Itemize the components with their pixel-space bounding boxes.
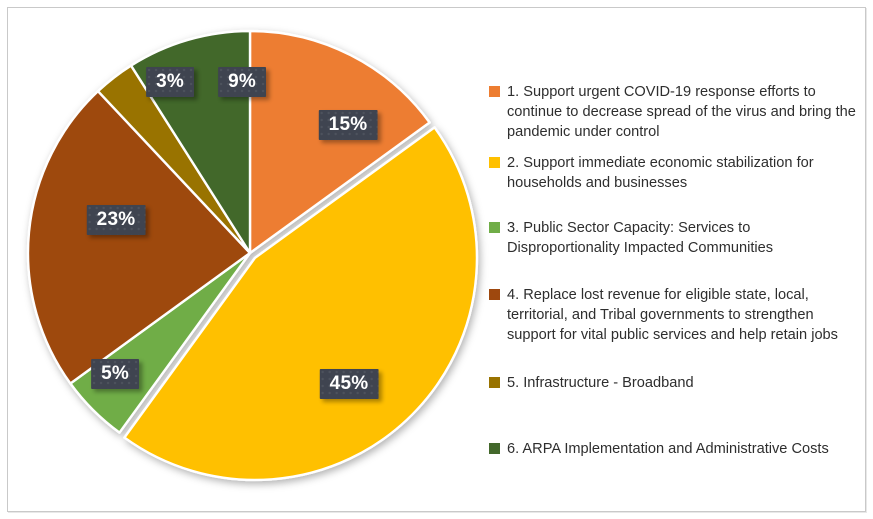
legend-swatch-icon [489,377,500,388]
legend-item-label: 1. Support urgent COVID-19 response effo… [507,82,859,142]
legend-item-label: 4. Replace lost revenue for eligible sta… [507,285,861,345]
legend-swatch-icon [489,289,500,300]
legend-item-label: 2. Support immediate economic stabilizat… [507,153,857,193]
legend-swatch-icon [489,157,500,168]
pie-data-label: 9% [218,67,266,97]
legend-item[interactable]: 5. Infrastructure - Broadband [489,373,861,393]
legend-item[interactable]: 6. ARPA Implementation and Administrativ… [489,439,861,459]
pie-data-label: 23% [87,205,146,235]
pie-slices-group [28,31,477,480]
legend-item[interactable]: 2. Support immediate economic stabilizat… [489,153,861,193]
pie-chart-plot-area: 15%45%5%23%3%9% [18,10,488,510]
pie-data-label: 3% [146,67,194,97]
legend-item-label: 6. ARPA Implementation and Administrativ… [507,439,859,459]
legend-item-label: 5. Infrastructure - Broadband [507,373,859,393]
legend-swatch-icon [489,443,500,454]
legend-item-label: 3. Public Sector Capacity: Services to D… [507,218,817,258]
legend-item[interactable]: 4. Replace lost revenue for eligible sta… [489,285,861,345]
legend-swatch-icon [489,222,500,233]
legend-item[interactable]: 1. Support urgent COVID-19 response effo… [489,82,861,142]
pie-data-label: 5% [91,359,139,389]
chart-legend: 1. Support urgent COVID-19 response effo… [489,22,861,492]
pie-data-label: 45% [320,369,379,399]
legend-item[interactable]: 3. Public Sector Capacity: Services to D… [489,218,861,258]
legend-swatch-icon [489,86,500,97]
pie-chart-figure: 15%45%5%23%3%9% 1. Support urgent COVID-… [0,0,873,519]
pie-data-label: 15% [319,110,378,140]
